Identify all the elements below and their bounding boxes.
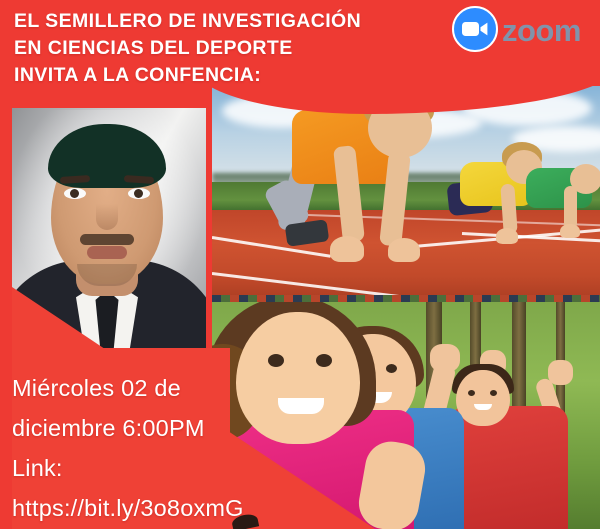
- event-date: Miércoles 02 de: [12, 368, 244, 408]
- zoom-logo: zoom: [452, 6, 581, 52]
- moustache: [80, 234, 134, 245]
- event-link[interactable]: https://bit.ly/3o8oxmG: [12, 488, 244, 528]
- event-poster: EL SEMILLERO DE INVESTIGACIÓN EN CIENCIA…: [0, 0, 600, 529]
- zoom-wordmark: zoom: [502, 15, 581, 46]
- event-details: Miércoles 02 de diciembre 6:00PM Link: h…: [12, 368, 244, 528]
- headline-line-1: EL SEMILLERO DE INVESTIGACIÓN: [14, 8, 454, 35]
- link-label: Link:: [12, 448, 244, 488]
- headline-line-2: EN CIENCIAS DEL DEPORTE: [14, 35, 454, 62]
- video-camera-icon: [452, 6, 498, 52]
- lips: [87, 246, 127, 259]
- page-title: EL SEMILLERO DE INVESTIGACIÓN EN CIENCIA…: [14, 8, 454, 89]
- red-left-strip: [0, 0, 12, 529]
- eye-right: [128, 188, 150, 199]
- event-time: diciembre 6:00PM: [12, 408, 244, 448]
- nose: [96, 204, 118, 230]
- headline-line-3: INVITA A LA CONFENCIA:: [14, 62, 454, 89]
- track-photo: [212, 86, 600, 304]
- eye-left: [64, 188, 86, 199]
